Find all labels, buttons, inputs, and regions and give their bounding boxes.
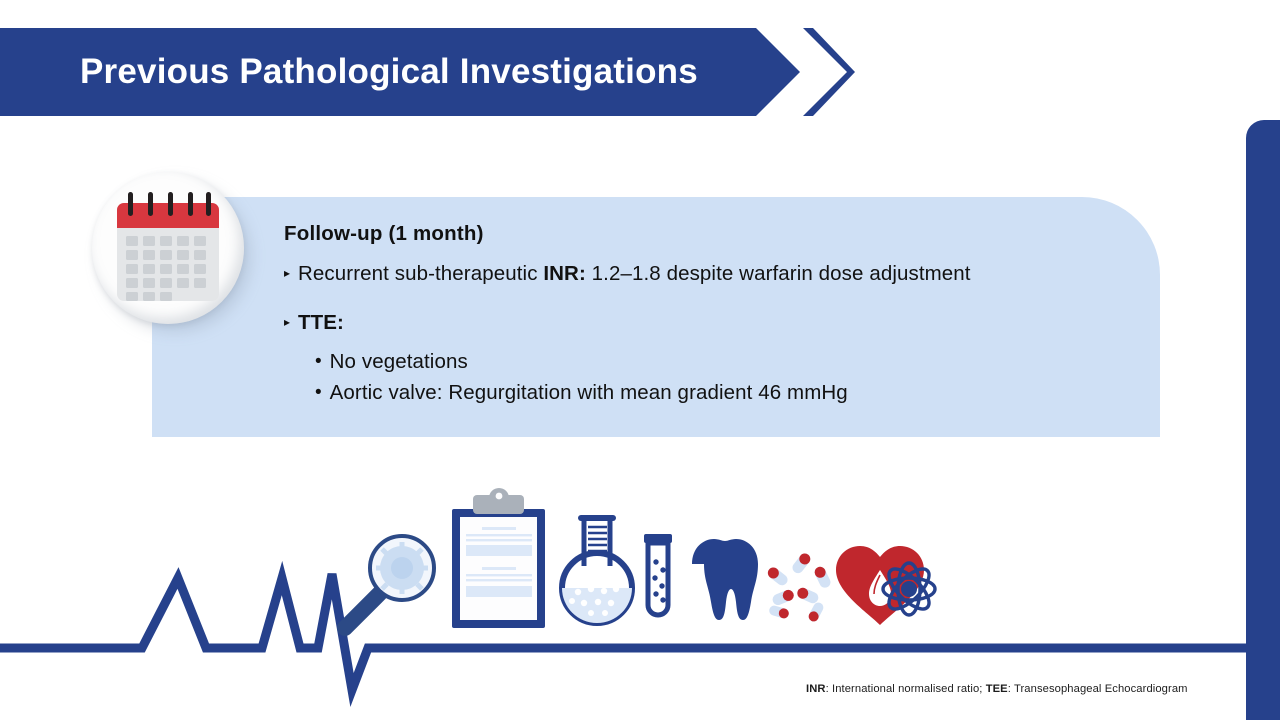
test-tube-icon [644,534,672,615]
list-item: • Aortic valve: Regurgitation with mean … [284,379,1140,407]
page-title: Previous Pathological Investigations [80,28,698,116]
banner-chevron-icon [803,28,855,116]
spacer [284,299,1140,308]
panel-heading: Follow-up (1 month) [284,222,1140,246]
bullet-suffix: 1.2–1.8 despite warfarin dose adjustment [586,262,971,285]
dot-bullet-icon: • [315,348,322,376]
footnote-text-tee: : Transesophageal Echocardiogram [1008,683,1188,695]
content-panel: Follow-up (1 month) ▸ Recurrent sub-ther… [152,197,1160,437]
atom-icon [883,563,935,615]
content-panel-body: Follow-up (1 month) ▸ Recurrent sub-ther… [284,222,1140,410]
bullet-text: TTE: [298,308,344,337]
sub-bullet-text: No vegetations [330,348,468,376]
title-banner: Previous Pathological Investigations [0,28,870,116]
bullet-emphasis: TTE: [298,311,344,334]
footnote-abbr-inr: INR [806,683,826,695]
footnote: INR: International normalised ratio; TEE… [806,683,1188,695]
sub-bullet-text: Aortic valve: Regurgitation with mean gr… [330,379,848,407]
footnote-abbr-tee: TEE [986,683,1008,695]
list-item: • No vegetations [284,348,1140,376]
bullet-emphasis: INR: [543,262,586,285]
clipboard-icon [452,488,545,628]
right-edge-accent-bar [1246,120,1280,720]
bullet-text: Recurrent sub-therapeutic INR: 1.2–1.8 d… [298,259,971,288]
round-bottom-flask-icon [562,515,632,623]
triangle-bullet-icon: ▸ [284,259,290,288]
list-item: ▸ Recurrent sub-therapeutic INR: 1.2–1.8… [284,259,1140,288]
ecg-line-icon [0,574,1246,690]
heart-blood-drop-icon [836,546,924,625]
dot-bullet-icon: • [315,379,322,407]
list-item: ▸ TTE: [284,308,1140,337]
pills-icon [766,551,833,623]
calendar-badge-circle [92,172,244,324]
triangle-bullet-icon: ▸ [284,308,290,337]
bullet-prefix: Recurrent sub-therapeutic [298,262,543,285]
tooth-icon [692,539,758,620]
magnifier-virus-icon [345,536,434,628]
footnote-text-inr: : International normalised ratio; [826,683,986,695]
slide-root: Previous Pathological Investigations Fol… [0,0,1280,720]
